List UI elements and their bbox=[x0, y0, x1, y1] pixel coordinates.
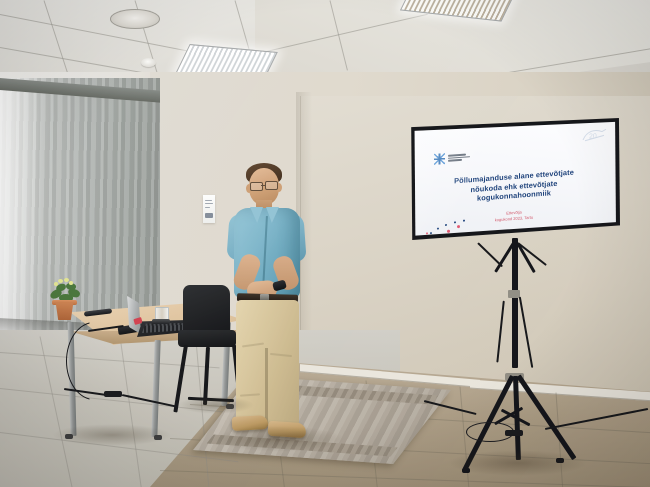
presentation-slide: 20 Põllumajanduse alane ettevõtjate nõuk… bbox=[410, 120, 618, 238]
svg-text:20: 20 bbox=[589, 133, 597, 141]
power-brick bbox=[505, 430, 523, 436]
glasses-lens-right bbox=[265, 181, 278, 190]
institution-logo-icon bbox=[434, 153, 445, 165]
slide-logo bbox=[434, 151, 470, 165]
glasses-lens-left bbox=[250, 182, 263, 191]
presenter-floor-shadow bbox=[214, 426, 344, 452]
slide-corner-decoration-icon: 20 bbox=[582, 127, 608, 142]
tripod-column-clamp bbox=[508, 290, 520, 298]
tripod-floor-shadow bbox=[448, 450, 588, 476]
smoke-detector-icon bbox=[141, 58, 156, 67]
wall-notice-paper bbox=[203, 195, 215, 223]
wall-display[interactable]: 20 Põllumajanduse alane ettevõtjate nõuk… bbox=[408, 118, 620, 240]
glass-coaster bbox=[152, 319, 170, 324]
slide-logo-text bbox=[448, 153, 470, 162]
chair-floor-shadow bbox=[178, 396, 254, 414]
tripod-center-column bbox=[512, 238, 518, 368]
window-light-glow bbox=[0, 78, 42, 333]
trouser-inseam bbox=[265, 348, 268, 426]
recessed-downlight bbox=[110, 9, 160, 29]
tv-screen[interactable]: 20 Põllumajanduse alane ettevõtjate nõuk… bbox=[410, 120, 618, 238]
table-floor-shadow bbox=[52, 424, 172, 446]
conference-room-photo: 20 Põllumajanduse alane ettevõtjate nõuk… bbox=[0, 0, 650, 487]
floor-power-brick bbox=[104, 391, 122, 397]
slide-title: Põllumajanduse alane ettevõtjate nõukoda… bbox=[410, 164, 618, 208]
glasses-bridge bbox=[261, 185, 265, 186]
